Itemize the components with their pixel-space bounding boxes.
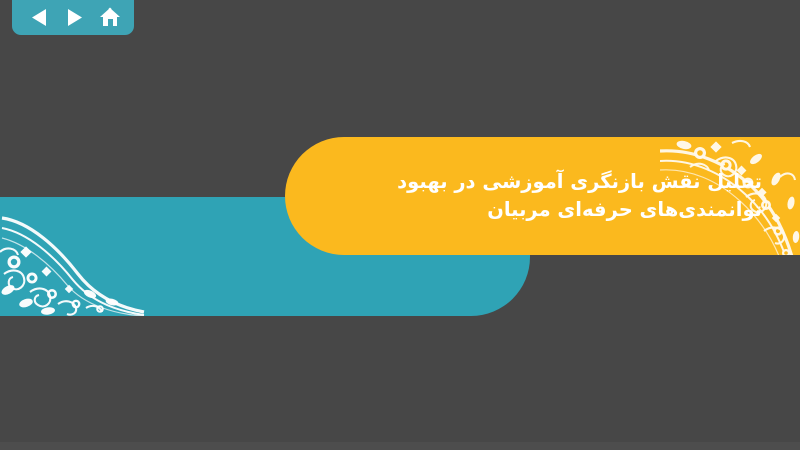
arabesque-ornament-icon <box>0 208 145 316</box>
triangle-left-icon <box>31 8 48 27</box>
navigation-bar <box>12 0 134 35</box>
next-slide-button[interactable] <box>60 5 90 31</box>
presentation-slide: تحلیل نقش بازنگری آموزشی در بهبود توانمن… <box>0 0 800 450</box>
previous-slide-button[interactable] <box>25 5 55 31</box>
title-line-2: توانمندی‌های حرفه‌ای مربیان <box>487 196 762 224</box>
slide-title: تحلیل نقش بازنگری آموزشی در بهبود توانمن… <box>322 137 762 255</box>
title-line-1: تحلیل نقش بازنگری آموزشی در بهبود <box>397 168 762 196</box>
orange-title-banner: تحلیل نقش بازنگری آموزشی در بهبود توانمن… <box>285 137 800 255</box>
bottom-strip <box>0 442 800 450</box>
home-button[interactable] <box>95 5 125 31</box>
home-icon <box>99 7 121 28</box>
triangle-right-icon <box>66 8 83 27</box>
